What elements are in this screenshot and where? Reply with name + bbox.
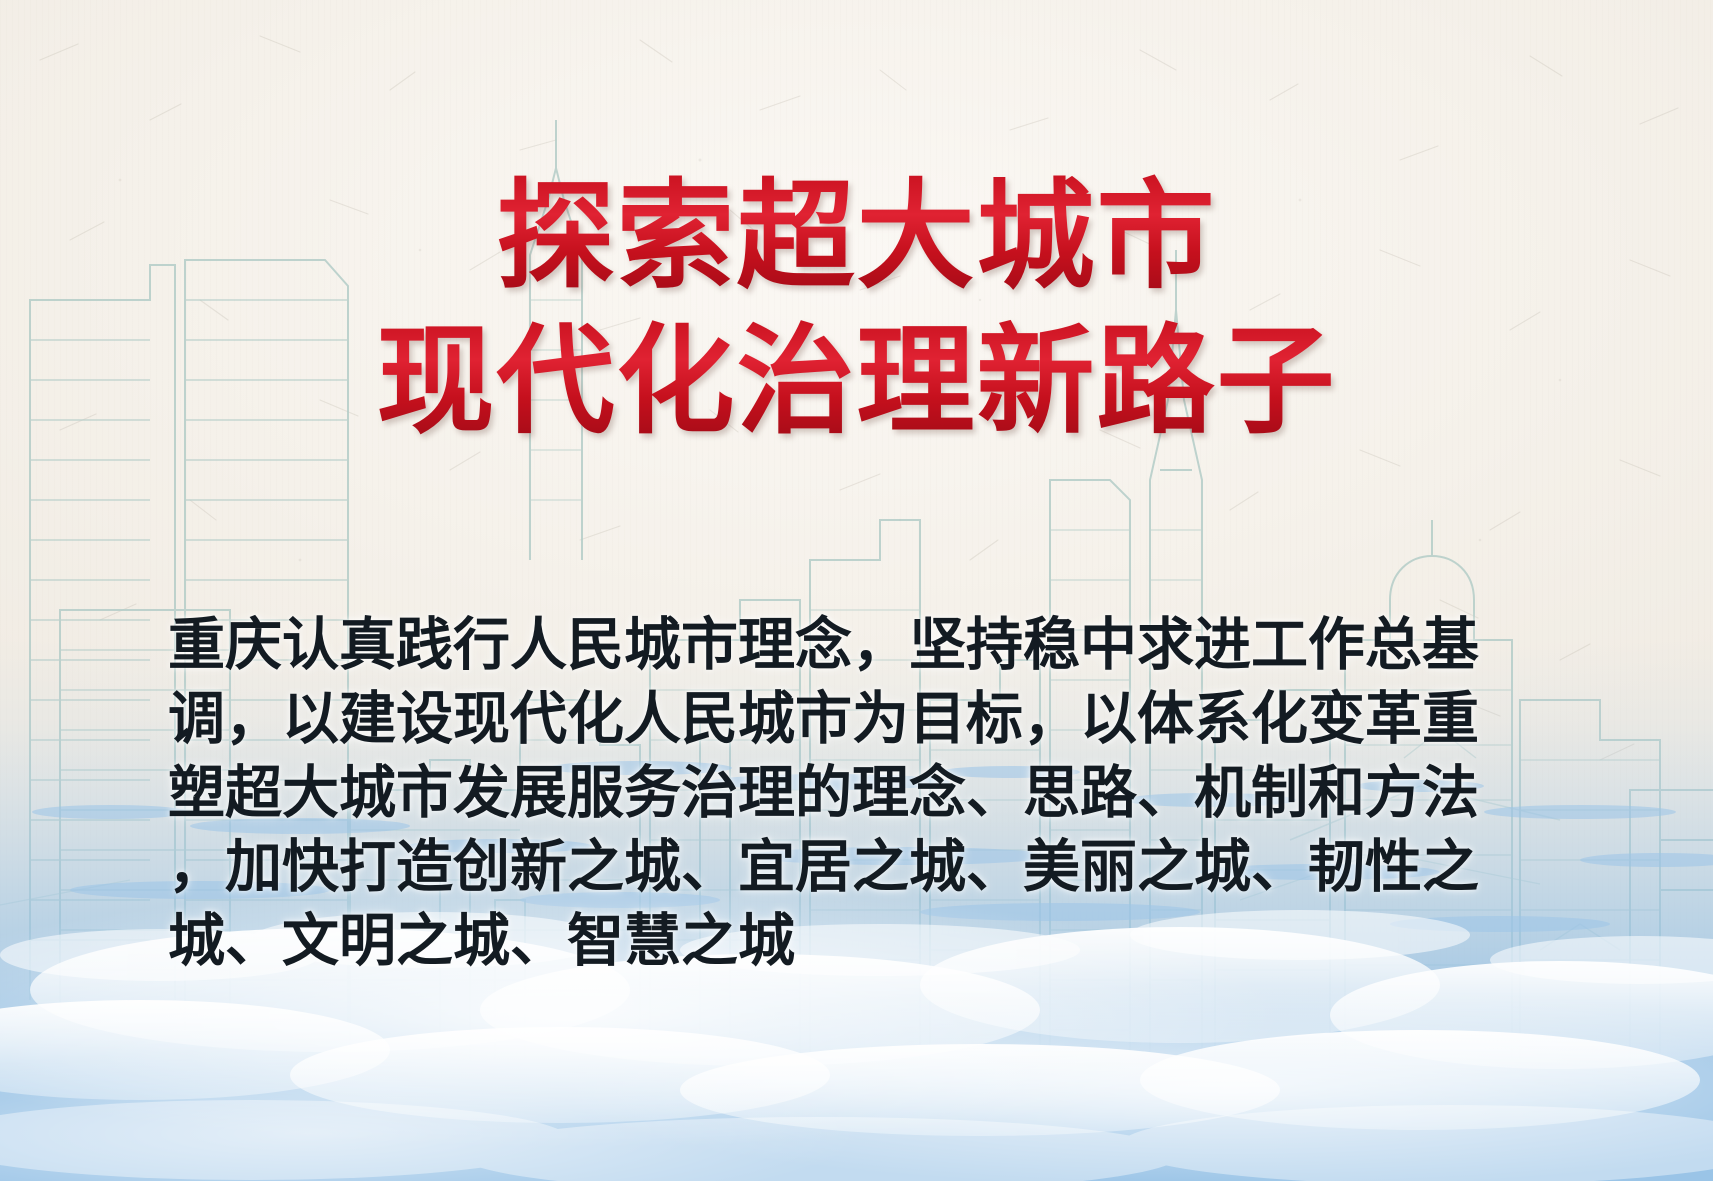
body-line: 调，以建设现代化人民城市为目标，以体系化变革重 [168, 682, 1413, 756]
body-line: 重庆认真践行人民城市理念，坚持稳中求进工作总基 [168, 608, 1413, 682]
title-line-1: 探索超大城市 [0, 168, 1713, 305]
body-line: ，加快打造创新之城、宜居之城、美丽之城、韧性之 [168, 830, 1413, 904]
title-line-2: 现代化治理新路子 [0, 313, 1713, 450]
poster-canvas: 探索超大城市 现代化治理新路子 重庆认真践行人民城市理念，坚持稳中求进工作总基 … [0, 0, 1713, 1181]
body-line: 城、文明之城、智慧之城 [168, 904, 1413, 978]
poster-content: 探索超大城市 现代化治理新路子 重庆认真践行人民城市理念，坚持稳中求进工作总基 … [0, 0, 1713, 1181]
poster-title: 探索超大城市 现代化治理新路子 [0, 168, 1713, 450]
body-line: 塑超大城市发展服务治理的理念、思路、机制和方法 [168, 756, 1413, 830]
poster-body-text: 重庆认真践行人民城市理念，坚持稳中求进工作总基 调，以建设现代化人民城市为目标，… [168, 608, 1413, 978]
